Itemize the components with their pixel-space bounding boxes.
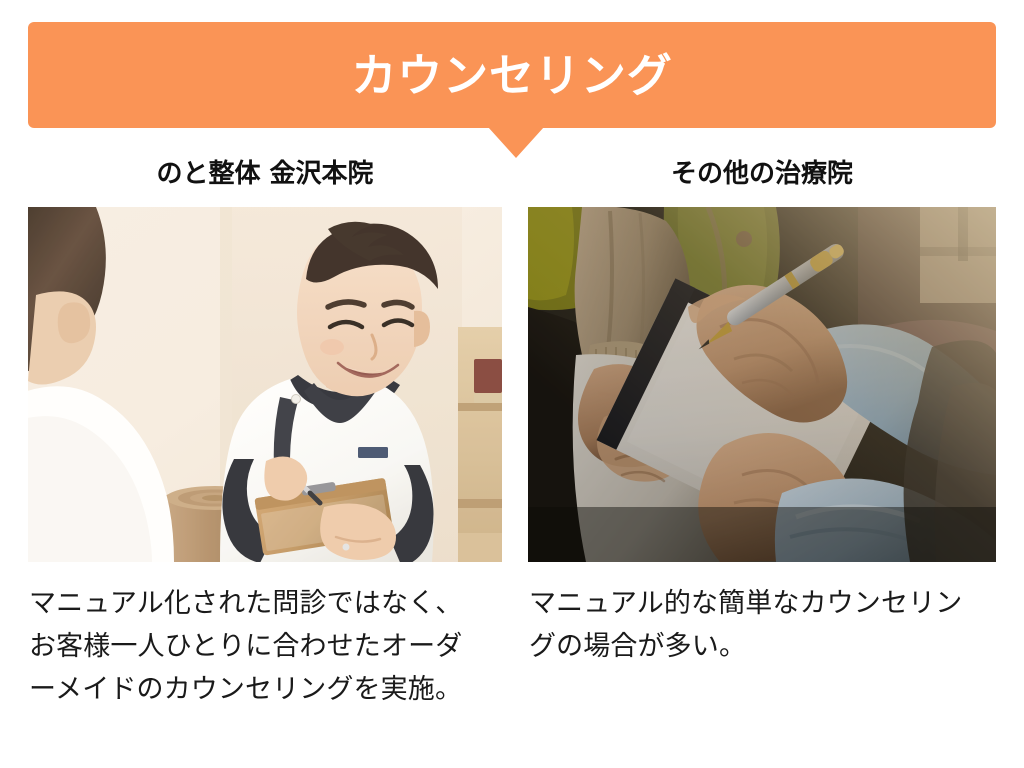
- column-heading-noto-seitai: のと整体 金沢本院: [28, 157, 502, 191]
- caption-other-clinics: マニュアル的な簡単なカウンセリン グの場合が多い。: [529, 582, 1009, 668]
- clipboard-handwriting-photo: [528, 207, 996, 562]
- caption-line: グの場合が多い。: [529, 625, 1009, 668]
- banner-title: カウンセリング: [351, 53, 672, 98]
- banner-notch-triangle: [488, 127, 544, 158]
- caption-line: マニュアル的な簡単なカウンセリン: [529, 582, 1009, 625]
- caption-noto-seitai: マニュアル化された問診ではなく、 お客様一人ひとりに合わせたオーダ ーメイドのカ…: [29, 582, 509, 711]
- caption-line: お客様一人ひとりに合わせたオーダ: [29, 625, 509, 668]
- caption-line: マニュアル化された問診ではなく、: [29, 582, 509, 625]
- column-heading-other-clinics: その他の治療院: [528, 157, 996, 191]
- caption-line: ーメイドのカウンセリングを実施。: [29, 668, 509, 711]
- section-banner: カウンセリング: [28, 22, 996, 128]
- therapist-counseling-photo: [28, 207, 502, 562]
- comparison-slide: カウンセリング のと整体 金沢本院 その他の治療院: [0, 0, 1024, 768]
